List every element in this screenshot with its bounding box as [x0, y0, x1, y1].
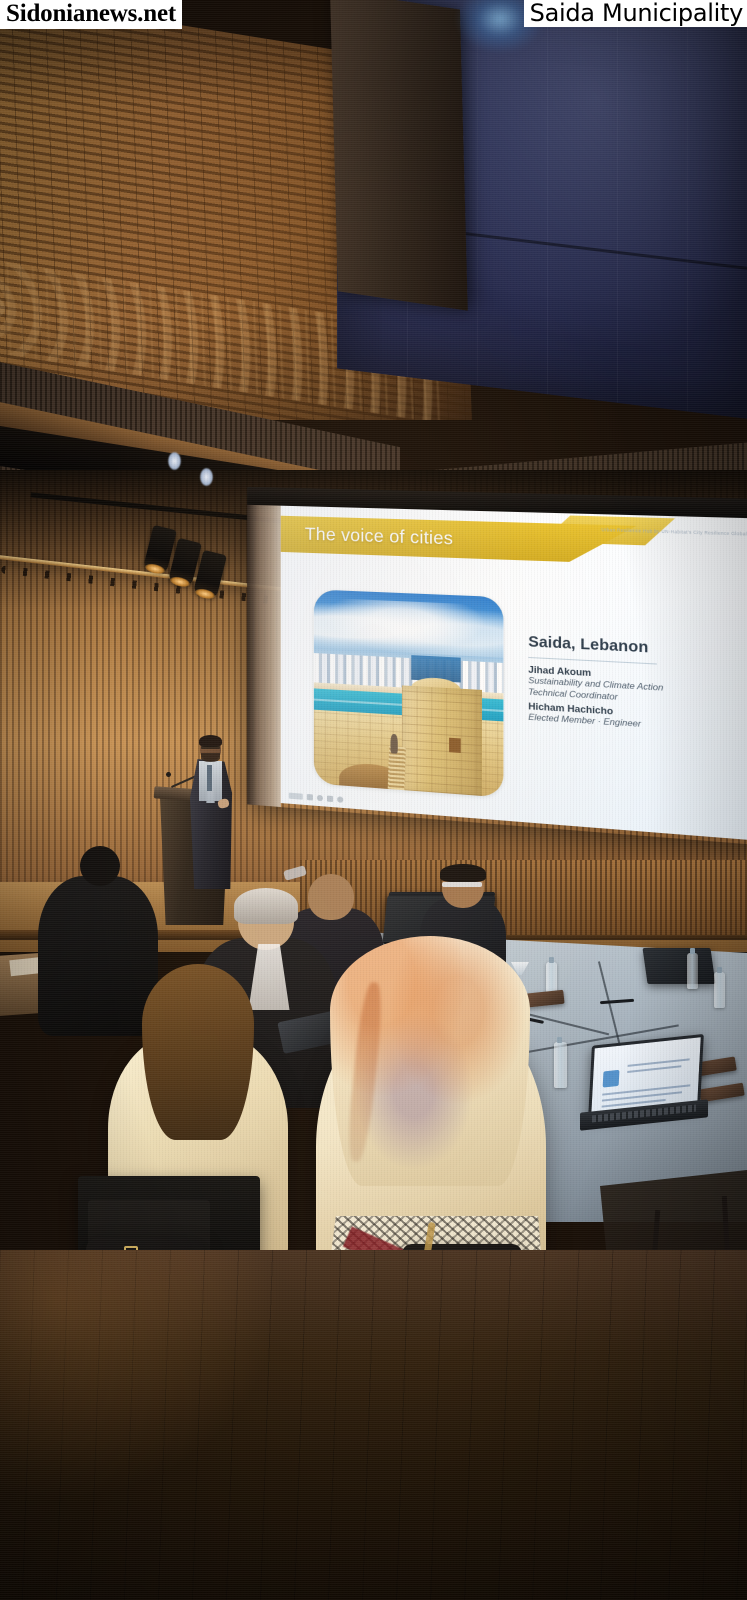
partner-logo-icon [337, 796, 343, 803]
presentation-slide: The voice of cities Urban Resilience Hub… [281, 506, 747, 843]
balcony-slat-band [0, 300, 747, 490]
screen-left-margin [247, 505, 281, 807]
water-bottle [554, 1042, 567, 1088]
glasses-icon [442, 882, 482, 887]
audience-hair [142, 964, 254, 1140]
presenter-tie [207, 765, 212, 791]
slide-text-block: Saida, Lebanon Jihad Akoum Sustainabilit… [528, 634, 747, 739]
microphone-icon [166, 772, 171, 777]
dark-column [330, 0, 468, 311]
partner-logo-icon [307, 794, 313, 801]
partner-logo-icon [317, 795, 323, 802]
water-bottle [714, 972, 725, 1008]
slide-footer-logo-row [289, 793, 343, 803]
presenter [188, 737, 234, 907]
photo-tower-window [449, 738, 461, 753]
ceiling-spot-glow [455, 0, 545, 54]
water-bottle [687, 953, 698, 989]
projection-screen: The voice of cities Urban Resilience Hub… [255, 505, 747, 847]
partner-logo-icon [327, 796, 333, 803]
audience-head [308, 874, 354, 920]
ceiling-downlight-icon [168, 452, 181, 470]
presenter-beard [201, 753, 220, 762]
laptop [642, 948, 715, 984]
slide-city-photo [314, 589, 504, 797]
glasses-icon [201, 746, 220, 749]
conference-photo: The voice of cities Urban Resilience Hub… [0, 0, 747, 1600]
photo-clouds [314, 597, 504, 657]
audience-head [80, 846, 120, 886]
partner-logo-icon [289, 793, 303, 800]
audience-member [38, 876, 158, 1036]
document-logo-icon [603, 1070, 620, 1088]
ceiling-downlight-icon [200, 468, 213, 486]
photo-tower-stonework [401, 686, 482, 796]
audience-scarf [242, 944, 296, 1010]
floor-light-pool [0, 1250, 280, 1500]
photo-person [390, 734, 398, 754]
document-text-line [627, 1065, 681, 1073]
audience-hair [234, 888, 298, 924]
audience-hair [440, 864, 486, 882]
